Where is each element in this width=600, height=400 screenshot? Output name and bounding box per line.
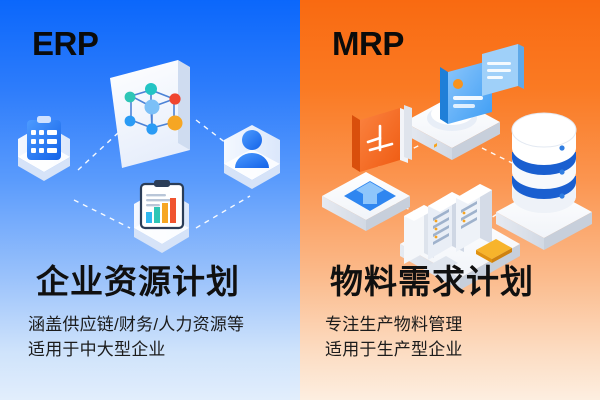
erp-connector-lines bbox=[74, 120, 250, 228]
mrp-sub-line-2: 适用于生产型企业 bbox=[325, 338, 463, 363]
mrp-subtext: 专注生产物料管理 适用于生产型企业 bbox=[325, 313, 463, 362]
erp-icon-clipboard-table bbox=[18, 116, 70, 181]
erp-sub-line-1: 涵盖供应链/财务/人力资源等 bbox=[28, 313, 244, 338]
panel-mrp: MRP bbox=[300, 0, 600, 400]
mrp-kicker-label: MRP bbox=[332, 27, 404, 60]
erp-headline: 企业资源计划 bbox=[36, 265, 240, 300]
mrp-icon-monitor-screen bbox=[404, 44, 524, 160]
panel-erp: ERP bbox=[0, 0, 300, 400]
erp-icon-network-graph-card bbox=[110, 60, 190, 168]
mrp-icon-book-stop-sign bbox=[322, 105, 412, 231]
mrp-icon-database-stack bbox=[496, 113, 592, 250]
mrp-headline: 物料需求计划 bbox=[330, 265, 534, 300]
comparison-infographic: ERP bbox=[0, 0, 600, 400]
mrp-sub-line-1: 专注生产物料管理 bbox=[325, 313, 463, 338]
mrp-connector-lines bbox=[376, 144, 524, 222]
erp-subtext: 涵盖供应链/财务/人力资源等 适用于中大型企业 bbox=[28, 313, 244, 362]
erp-icon-clipboard-barchart bbox=[134, 180, 189, 253]
erp-icon-user-person bbox=[224, 125, 280, 189]
erp-sub-line-2: 适用于中大型企业 bbox=[28, 338, 244, 363]
erp-kicker-label: ERP bbox=[32, 27, 98, 60]
